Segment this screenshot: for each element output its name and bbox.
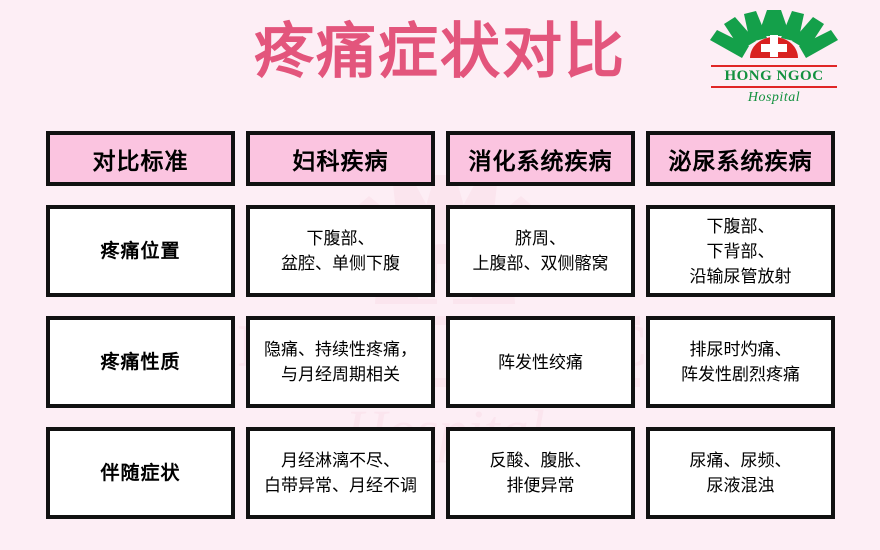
hospital-logo-mark — [704, 8, 844, 64]
column-header-criterion: 对比标准 — [46, 131, 235, 186]
page-header: 疼痛症状对比 HONG NGOC Hospital — [0, 0, 880, 118]
cell-digestive: 反酸、腹胀、 排便异常 — [446, 427, 635, 519]
logo-subtitle: Hospital — [704, 89, 844, 106]
logo-rule-top — [711, 65, 837, 67]
hospital-logo: HONG NGOC Hospital — [704, 8, 844, 108]
table-row: 伴随症状 月经淋漓不尽、 白带异常、月经不调 反酸、腹胀、 排便异常 尿痛、尿频… — [46, 427, 836, 519]
table-header-row: 对比标准 妇科疾病 消化系统疾病 泌尿系统疾病 — [46, 131, 836, 186]
column-header-gynecological: 妇科疾病 — [246, 131, 435, 186]
cell-criterion-text: 疼痛位置 — [100, 239, 180, 264]
logo-name: HONG NGOC — [704, 68, 844, 85]
cell-criterion: 疼痛位置 — [46, 205, 235, 297]
cell-digestive: 脐周、 上腹部、双侧髂窝 — [446, 205, 635, 297]
cell-criterion: 伴随症状 — [46, 427, 235, 519]
table-row: 疼痛性质 隐痛、持续性疼痛， 与月经周期相关 阵发性绞痛 排尿时灼痛、 阵发性剧… — [46, 316, 836, 408]
cell-urinary-text: 尿痛、尿频、 尿液混浊 — [690, 448, 792, 498]
cell-criterion: 疼痛性质 — [46, 316, 235, 408]
column-header-digestive: 消化系统疾病 — [446, 131, 635, 186]
cell-gynecological-text: 月经淋漓不尽、 白带异常、月经不调 — [264, 448, 417, 498]
cell-urinary: 尿痛、尿频、 尿液混浊 — [646, 427, 835, 519]
comparison-table: 对比标准 妇科疾病 消化系统疾病 泌尿系统疾病 疼痛位置 下腹部、 盆腔、单侧下… — [46, 131, 836, 519]
cell-urinary: 下腹部、 下背部、 沿输尿管放射 — [646, 205, 835, 297]
cell-urinary: 排尿时灼痛、 阵发性剧烈疼痛 — [646, 316, 835, 408]
cell-gynecological: 隐痛、持续性疼痛， 与月经周期相关 — [246, 316, 435, 408]
table-row: 疼痛位置 下腹部、 盆腔、单侧下腹 脐周、 上腹部、双侧髂窝 下腹部、 下背部、… — [46, 205, 836, 297]
cell-digestive-text: 反酸、腹胀、 排便异常 — [490, 448, 592, 498]
cell-gynecological-text: 下腹部、 盆腔、单侧下腹 — [281, 226, 400, 276]
cell-digestive-text: 阵发性绞痛 — [498, 350, 583, 375]
column-header-urinary-label: 泌尿系统疾病 — [669, 142, 813, 176]
column-header-gynecological-label: 妇科疾病 — [293, 142, 389, 176]
cell-criterion-text: 伴随症状 — [100, 461, 180, 486]
cell-urinary-text: 下腹部、 下背部、 沿输尿管放射 — [690, 214, 792, 289]
column-header-urinary: 泌尿系统疾病 — [646, 131, 835, 186]
column-header-criterion-label: 对比标准 — [93, 142, 189, 176]
cell-digestive: 阵发性绞痛 — [446, 316, 635, 408]
cell-gynecological-text: 隐痛、持续性疼痛， 与月经周期相关 — [264, 337, 417, 387]
cell-gynecological: 下腹部、 盆腔、单侧下腹 — [246, 205, 435, 297]
cell-criterion-text: 疼痛性质 — [100, 350, 180, 375]
cell-gynecological: 月经淋漓不尽、 白带异常、月经不调 — [246, 427, 435, 519]
logo-rule-bottom — [711, 86, 837, 88]
cell-urinary-text: 排尿时灼痛、 阵发性剧烈疼痛 — [681, 337, 800, 387]
cell-digestive-text: 脐周、 上腹部、双侧髂窝 — [473, 226, 609, 276]
column-header-digestive-label: 消化系统疾病 — [469, 142, 613, 176]
